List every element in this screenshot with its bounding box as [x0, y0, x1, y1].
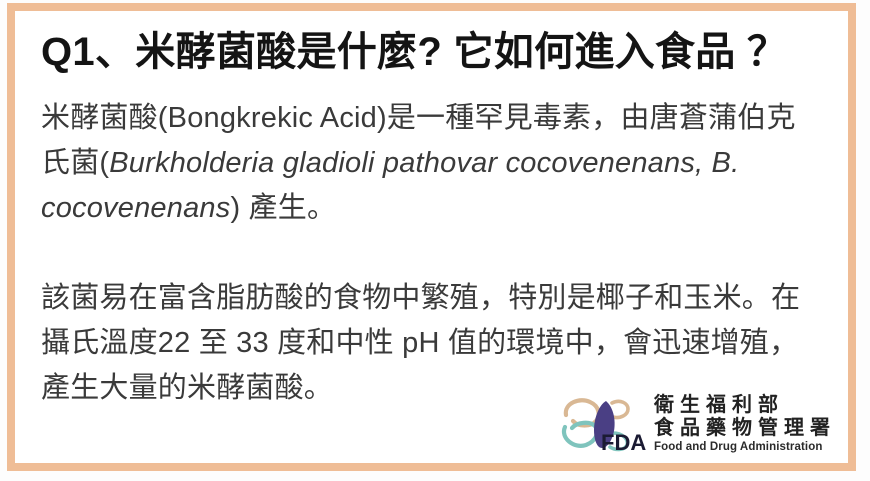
growth-conditions-text: 該菌易在富含脂肪酸的食物中繁殖，特別是椰子和玉米。在攝氏溫度22 至 33 度和… — [41, 282, 800, 404]
info-card: Q1、米酵菌酸是什麼? 它如何進入食品 ？ 米酵菌酸(Bongkrekic Ac… — [7, 3, 856, 471]
fda-butterfly-taiwan-logo-icon: FDA — [556, 393, 648, 455]
definition-text-tail: ) 產生。 — [230, 192, 336, 224]
page-title: Q1、米酵菌酸是什麼? 它如何進入食品 ？ — [41, 29, 824, 76]
agency-name-english: Food and Drug Administration — [654, 442, 836, 454]
paragraph-definition: 米酵菌酸(Bongkrekic Acid)是一種罕見毒素，由唐蒼蒲伯克氏菌(Bu… — [41, 96, 824, 231]
info-card-inner: Q1、米酵菌酸是什麼? 它如何進入食品 ？ 米酵菌酸(Bongkrekic Ac… — [15, 11, 848, 463]
definition-scientific-name: Burkholderia gladioli pathovar cocovenen… — [41, 147, 739, 224]
screenshot-canvas: Q1、米酵菌酸是什麼? 它如何進入食品 ？ 米酵菌酸(Bongkrekic Ac… — [0, 0, 870, 481]
agency-name-line1: 衛生福利部 — [654, 395, 836, 415]
body-content: 米酵菌酸(Bongkrekic Acid)是一種罕見毒素，由唐蒼蒲伯克氏菌(Bu… — [41, 96, 824, 411]
paragraph-growth-conditions: 該菌易在富含脂肪酸的食物中繁殖，特別是椰子和玉米。在攝氏溫度22 至 33 度和… — [41, 276, 824, 411]
fda-logo-text: 衛生福利部 食品藥物管理署 Food and Drug Administrati… — [654, 395, 836, 454]
svg-text:FDA: FDA — [601, 430, 646, 455]
agency-name-line2: 食品藥物管理署 — [654, 418, 836, 438]
fda-logo-lockup: FDA 衛生福利部 食品藥物管理署 Food and Drug Administ… — [556, 393, 836, 455]
